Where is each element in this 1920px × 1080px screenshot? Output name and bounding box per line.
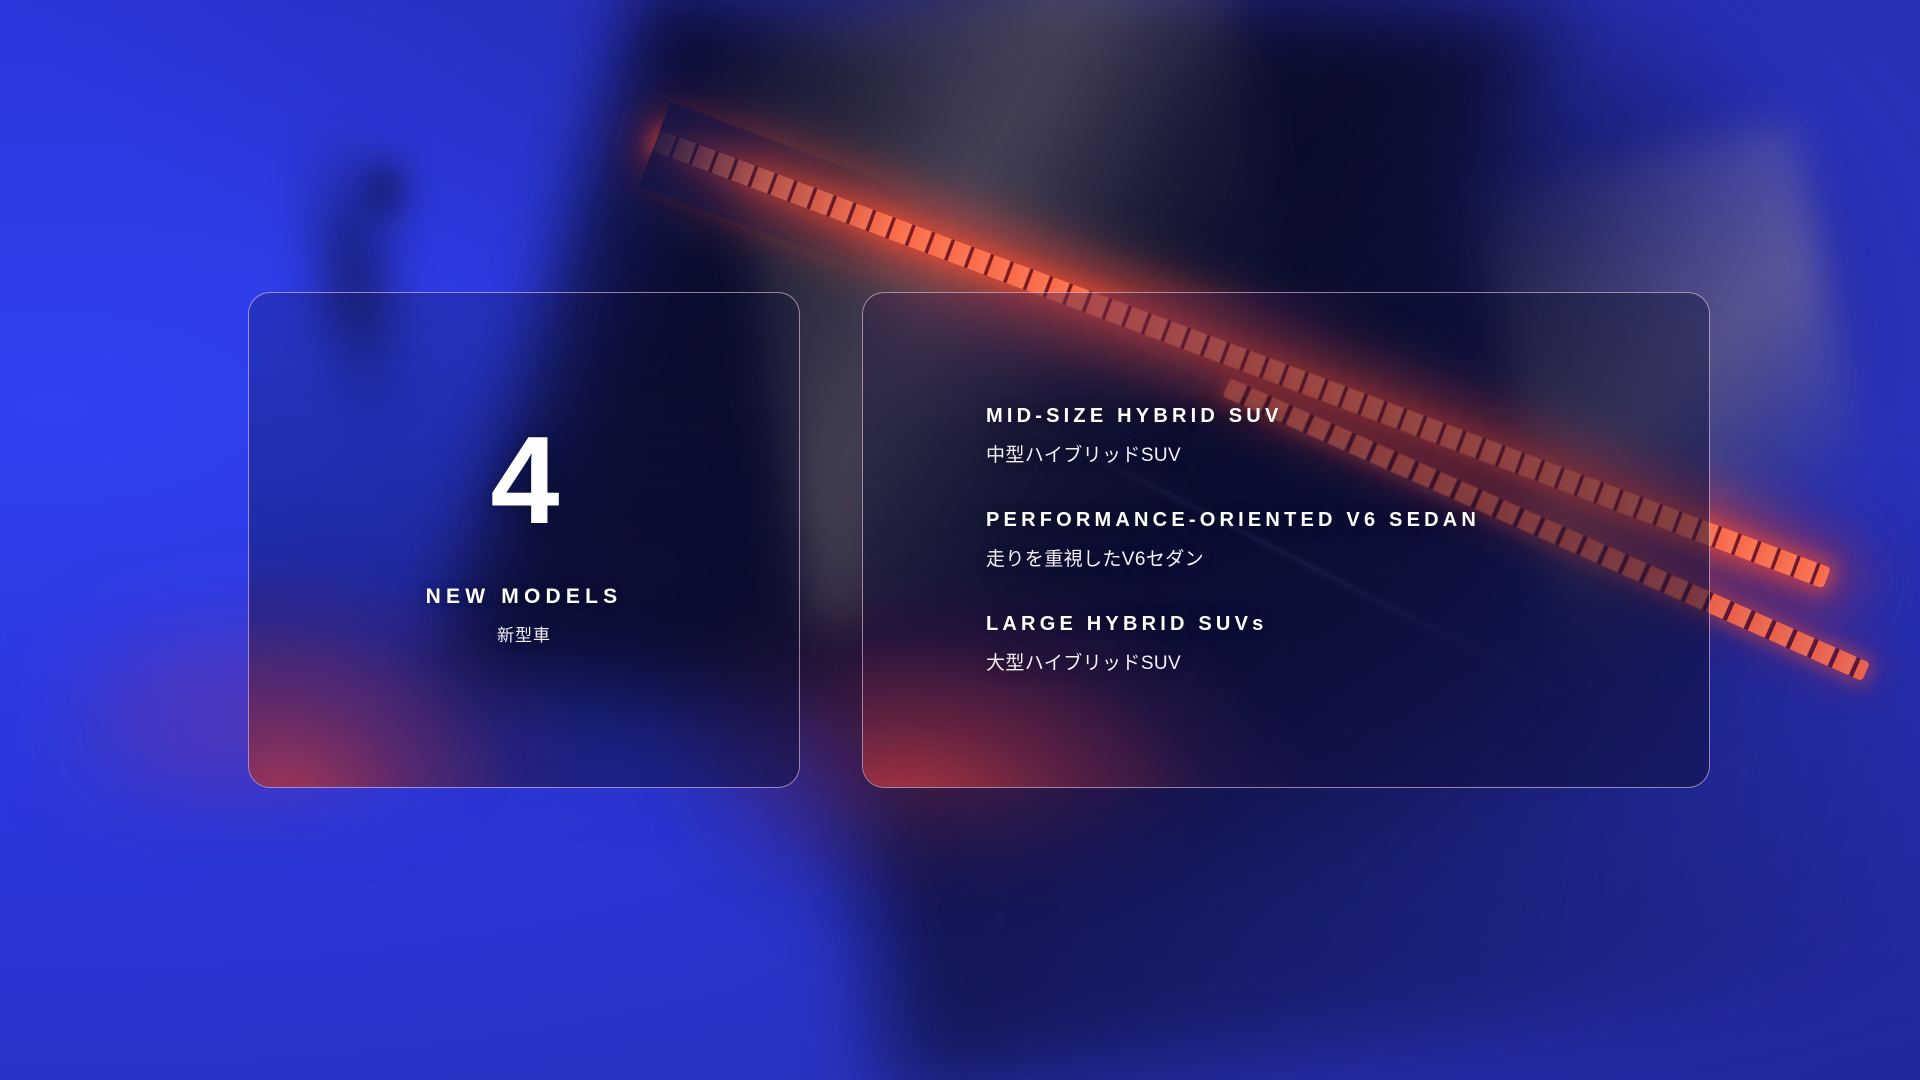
- new-models-stat-card[interactable]: 4 NEW MODELS 新型車: [248, 292, 800, 788]
- stat-block: 4 NEW MODELS 新型車: [249, 293, 799, 787]
- model-title-japanese: 大型ハイブリッドSUV: [986, 648, 1709, 675]
- model-title-english: MID-SIZE HYBRID SUV: [986, 405, 1709, 428]
- stat-number: 4: [491, 424, 558, 538]
- model-title-japanese: 走りを重視したV6セダン: [986, 544, 1709, 571]
- list-item[interactable]: MID-SIZE HYBRID SUV 中型ハイブリッドSUV: [986, 405, 1709, 467]
- stat-label-japanese: 新型車: [497, 621, 551, 646]
- model-title-japanese: 中型ハイブリッドSUV: [986, 440, 1709, 467]
- model-title-english: PERFORMANCE-ORIENTED V6 SEDAN: [986, 509, 1709, 532]
- list-item[interactable]: PERFORMANCE-ORIENTED V6 SEDAN 走りを重視したV6セ…: [986, 509, 1709, 571]
- slide-stage: 4 NEW MODELS 新型車 MID-SIZE HYBRID SUV 中型ハ…: [0, 0, 1920, 1080]
- list-item[interactable]: LARGE HYBRID SUVs 大型ハイブリッドSUV: [986, 613, 1709, 675]
- cards-row: 4 NEW MODELS 新型車 MID-SIZE HYBRID SUV 中型ハ…: [248, 292, 1710, 788]
- model-list-card[interactable]: MID-SIZE HYBRID SUV 中型ハイブリッドSUV PERFORMA…: [862, 292, 1710, 788]
- vehicle-side-mirror: [350, 135, 420, 245]
- stat-label-english: NEW MODELS: [426, 585, 623, 609]
- model-title-english: LARGE HYBRID SUVs: [986, 613, 1709, 636]
- model-list: MID-SIZE HYBRID SUV 中型ハイブリッドSUV PERFORMA…: [863, 293, 1709, 787]
